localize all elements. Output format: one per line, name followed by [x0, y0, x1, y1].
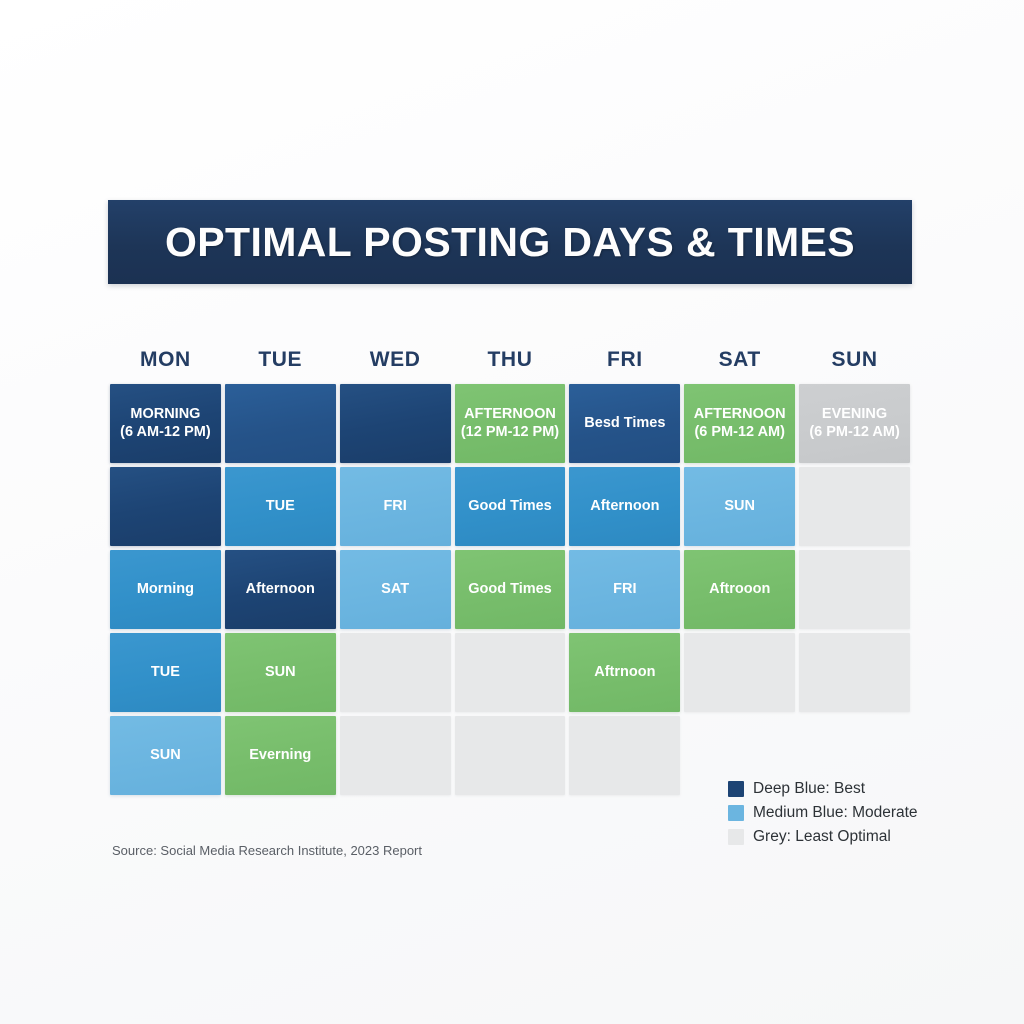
cell-label-primary: SUN — [150, 747, 181, 765]
cell-label-secondary: (6 PM-12 AM) — [694, 424, 785, 442]
heatmap-cell[interactable]: TUE — [225, 467, 336, 546]
heatmap-cell[interactable]: AFTERNOON(6 PM-12 AM) — [684, 384, 795, 463]
heatmap-cell[interactable]: SUN — [684, 467, 795, 546]
heatmap-cell[interactable]: Aftrooon — [684, 550, 795, 629]
legend-row: Grey: Least Optimal — [728, 828, 918, 846]
heatmap-cell-empty[interactable] — [569, 716, 680, 795]
cell-label-primary: Aftrnoon — [594, 664, 655, 682]
day-header-tue: TUE — [225, 348, 336, 372]
cell-label-primary: Afternoon — [590, 498, 659, 516]
day-header-row: MONTUEWEDTHUFRISATSUN — [110, 338, 910, 382]
heatmap-cell[interactable]: FRI — [569, 550, 680, 629]
heatmap-cell[interactable]: Good Times — [455, 550, 566, 629]
heatmap-cell-empty[interactable] — [799, 550, 910, 629]
cell-label-primary: FRI — [383, 498, 406, 516]
infographic-canvas: OPTIMAL POSTING DAYS & TIMES MONTUEWEDTH… — [0, 0, 1024, 1024]
heatmap-cell-empty[interactable] — [455, 716, 566, 795]
heatmap-cell[interactable]: AFTERNOON(12 PM-12 PM) — [455, 384, 566, 463]
cell-label-primary: AFTERNOON — [694, 406, 786, 424]
cell-label-primary: Besd Times — [584, 415, 665, 433]
cell-label-secondary: (12 PM-12 PM) — [461, 424, 559, 442]
heatmap-cell[interactable]: Everning — [225, 716, 336, 795]
heatmap-cell[interactable]: Aftrnoon — [569, 633, 680, 712]
heatmap-cell[interactable]: Besd Times — [569, 384, 680, 463]
cell-label-primary: MORNING — [130, 406, 200, 424]
heatmap-cell[interactable]: Afternoon — [569, 467, 680, 546]
cell-label-primary: SAT — [381, 581, 409, 599]
heatmap-cell-grid: MORNING(6 AM-12 PM)AFTERNOON(12 PM-12 PM… — [110, 384, 910, 795]
heatmap-cell[interactable]: MORNING(6 AM-12 PM) — [110, 384, 221, 463]
legend-swatch-icon — [728, 781, 744, 797]
legend-label: Deep Blue: Best — [753, 780, 865, 798]
heatmap-cell-empty[interactable] — [455, 633, 566, 712]
cell-label-primary: AFTERNOON — [464, 406, 556, 424]
cell-label-primary: Good Times — [468, 581, 552, 599]
heatmap-cell[interactable]: Good Times — [455, 467, 566, 546]
heatmap-cell-empty[interactable] — [340, 633, 451, 712]
heatmap-cell-empty[interactable] — [799, 467, 910, 546]
cell-label-primary: Aftrooon — [709, 581, 770, 599]
heatmap-cell[interactable]: SUN — [110, 716, 221, 795]
heatmap-cell[interactable]: FRI — [340, 467, 451, 546]
heatmap-cell[interactable]: Afternoon — [225, 550, 336, 629]
cell-label-primary: Afternoon — [246, 581, 315, 599]
heatmap-cell[interactable]: SAT — [340, 550, 451, 629]
cell-label-primary: Good Times — [468, 498, 552, 516]
legend-label: Medium Blue: Moderate — [753, 804, 918, 822]
source-note: Source: Social Media Research Institute,… — [112, 843, 422, 858]
cell-label-primary: EVENING — [822, 406, 887, 424]
heatmap-cell-empty[interactable] — [684, 633, 795, 712]
legend: Deep Blue: BestMedium Blue: ModerateGrey… — [728, 780, 918, 846]
heatmap-cell-empty[interactable] — [340, 716, 451, 795]
page-title: OPTIMAL POSTING DAYS & TIMES — [165, 219, 855, 266]
title-banner: OPTIMAL POSTING DAYS & TIMES — [108, 200, 912, 284]
heatmap-cell[interactable]: Morning — [110, 550, 221, 629]
heatmap-cell[interactable]: TUE — [110, 633, 221, 712]
legend-swatch-icon — [728, 805, 744, 821]
cell-label-primary: TUE — [151, 664, 180, 682]
schedule-grid: MONTUEWEDTHUFRISATSUN MORNING(6 AM-12 PM… — [110, 338, 910, 795]
legend-swatch-icon — [728, 829, 744, 845]
day-header-mon: MON — [110, 348, 221, 372]
cell-label-secondary: (6 AM-12 PM) — [120, 424, 211, 442]
heatmap-cell-empty[interactable] — [110, 467, 221, 546]
cell-label-primary: TUE — [266, 498, 295, 516]
cell-label-secondary: (6 PM-12 AM) — [809, 424, 900, 442]
day-header-sat: SAT — [684, 348, 795, 372]
heatmap-cell-empty[interactable] — [225, 384, 336, 463]
legend-label: Grey: Least Optimal — [753, 828, 891, 846]
legend-row: Deep Blue: Best — [728, 780, 918, 798]
cell-label-primary: SUN — [265, 664, 296, 682]
cell-label-primary: Everning — [249, 747, 311, 765]
day-header-thu: THU — [455, 348, 566, 372]
heatmap-cell-empty[interactable] — [340, 384, 451, 463]
heatmap-cell-empty[interactable] — [799, 633, 910, 712]
cell-label-primary: Morning — [137, 581, 194, 599]
legend-row: Medium Blue: Moderate — [728, 804, 918, 822]
heatmap-cell[interactable]: EVENING(6 PM-12 AM) — [799, 384, 910, 463]
cell-label-primary: FRI — [613, 581, 636, 599]
cell-label-primary: SUN — [724, 498, 755, 516]
day-header-wed: WED — [340, 348, 451, 372]
heatmap-cell[interactable]: SUN — [225, 633, 336, 712]
day-header-sun: SUN — [799, 348, 910, 372]
day-header-fri: FRI — [569, 348, 680, 372]
